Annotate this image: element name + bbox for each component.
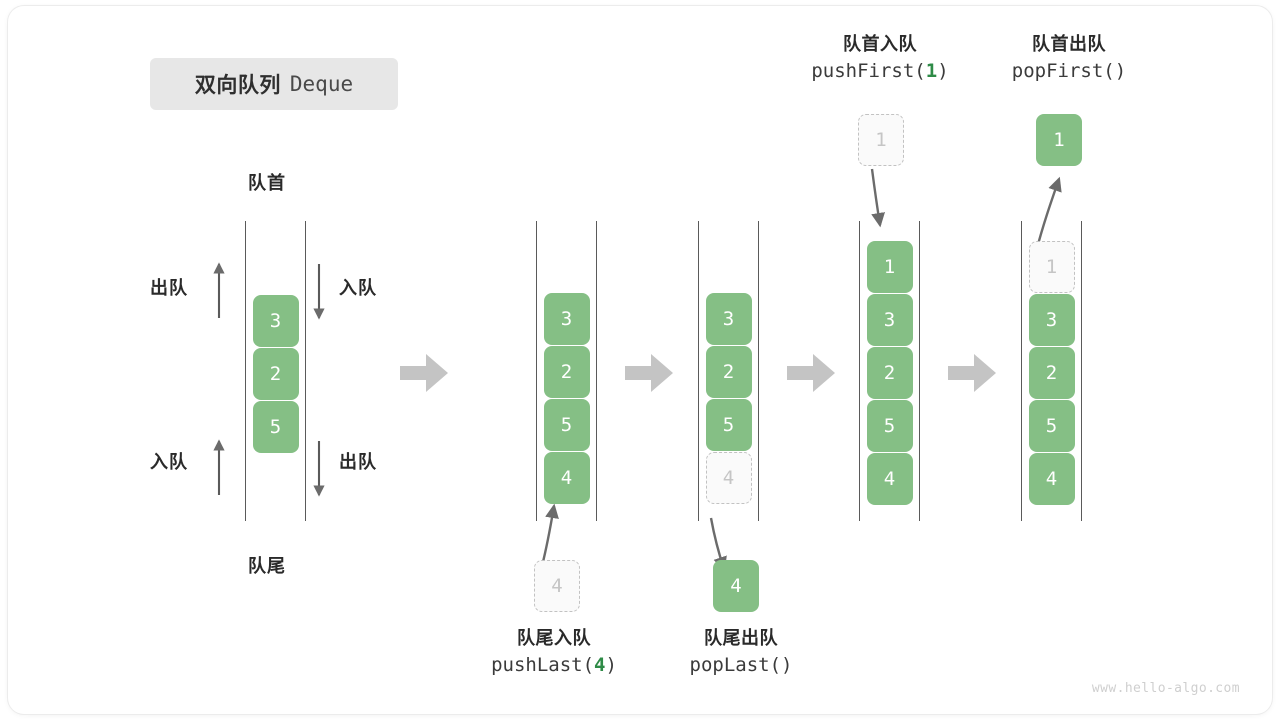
caption-cn: 队首入队	[795, 32, 965, 58]
node-item: 1	[867, 241, 913, 293]
stack-initial: 3 2 5	[245, 221, 306, 521]
caption-fn: popFirst(	[1012, 60, 1115, 82]
flow-arrow-1	[400, 354, 448, 392]
caption-code: pushLast(4)	[469, 652, 639, 679]
caption-push-first: 队首入队 pushFirst(1)	[795, 32, 965, 85]
diagram-title-badge: 双向队列 Deque	[150, 58, 398, 110]
node-item: 2	[253, 348, 299, 400]
rail-right	[596, 221, 597, 521]
caption-code: popFirst()	[984, 58, 1154, 85]
stack-pop-last: 3 2 5 4	[698, 221, 759, 521]
rail-right	[305, 221, 306, 521]
node-item: 5	[253, 401, 299, 453]
floating-node-pop-last: 4	[713, 560, 759, 612]
node-item: 4	[544, 452, 590, 504]
rail-right	[758, 221, 759, 521]
caption-pop-last: 队尾出队 popLast()	[656, 626, 826, 679]
caption-close: )	[937, 60, 948, 82]
caption-fn: popLast(	[690, 654, 782, 676]
node-item: 5	[1029, 400, 1075, 452]
rail-right	[919, 221, 920, 521]
node-list: 1 3 2 5 4	[1029, 241, 1075, 506]
node-item: 3	[867, 294, 913, 346]
node-item: 4	[1029, 453, 1075, 505]
motion-arrow-push-first	[872, 169, 880, 225]
caption-close: )	[605, 654, 616, 676]
rail-left	[698, 221, 699, 521]
rail-left	[536, 221, 537, 521]
caption-fn: pushFirst(	[811, 60, 925, 82]
caption-close: )	[1115, 60, 1126, 82]
watermark: www.hello-algo.com	[1092, 681, 1240, 696]
floating-node-push-first: 1	[858, 114, 904, 166]
rail-left	[859, 221, 860, 521]
caption-push-last: 队尾入队 pushLast(4)	[469, 626, 639, 679]
flow-arrow-2	[625, 354, 673, 392]
side-label-bottom-left: 入队	[150, 448, 188, 474]
title-en: Deque	[290, 72, 353, 96]
flow-arrow-4	[948, 354, 996, 392]
caption-code: popLast()	[656, 652, 826, 679]
caption-close: )	[781, 654, 792, 676]
caption-fn: pushLast(	[491, 654, 594, 676]
node-item: 2	[1029, 347, 1075, 399]
node-list: 3 2 5 4	[706, 293, 752, 505]
side-label-top-left: 出队	[150, 274, 188, 300]
caption-arg: 1	[926, 60, 937, 82]
caption-cn: 队尾出队	[656, 626, 826, 652]
stack-push-first: 1 3 2 5 4	[859, 221, 920, 521]
node-item: 3	[544, 293, 590, 345]
side-label-top-right: 入队	[339, 274, 377, 300]
node-item: 3	[253, 295, 299, 347]
node-item: 3	[1029, 294, 1075, 346]
flow-arrow-3	[787, 354, 835, 392]
rail-right	[1081, 221, 1082, 521]
stack-push-last: 3 2 5 4	[536, 221, 597, 521]
label-rear: 队尾	[248, 552, 286, 578]
diagram-card: 双向队列 Deque	[8, 6, 1272, 714]
caption-code: pushFirst(1)	[795, 58, 965, 85]
node-item: 5	[544, 399, 590, 451]
node-item-removed: 4	[706, 452, 752, 504]
node-item: 2	[867, 347, 913, 399]
label-front: 队首	[248, 169, 286, 195]
caption-cn: 队首出队	[984, 32, 1154, 58]
floating-node-push-last: 4	[534, 560, 580, 612]
node-item: 5	[867, 400, 913, 452]
stack-pop-first: 1 3 2 5 4	[1021, 221, 1082, 521]
rail-left	[1021, 221, 1022, 521]
title-cn: 双向队列	[195, 69, 281, 99]
node-list: 3 2 5	[253, 295, 299, 454]
caption-pop-first: 队首出队 popFirst()	[984, 32, 1154, 85]
caption-cn: 队尾入队	[469, 626, 639, 652]
node-list: 3 2 5 4	[544, 293, 590, 505]
node-item-removed: 1	[1029, 241, 1075, 293]
node-item: 3	[706, 293, 752, 345]
floating-node-pop-first: 1	[1036, 114, 1082, 166]
rail-left	[245, 221, 246, 521]
caption-arg: 4	[594, 654, 605, 676]
overlay-arrows	[8, 6, 1272, 714]
side-label-bottom-right: 出队	[339, 448, 377, 474]
node-list: 1 3 2 5 4	[867, 241, 913, 506]
node-item: 2	[706, 346, 752, 398]
node-item: 5	[706, 399, 752, 451]
node-item: 2	[544, 346, 590, 398]
node-item: 4	[867, 453, 913, 505]
